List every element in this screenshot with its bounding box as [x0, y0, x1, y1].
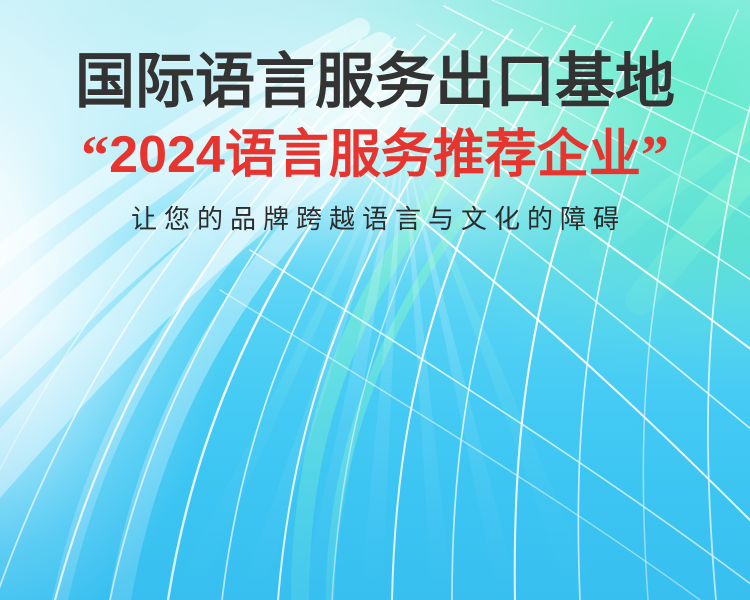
quote-open: “ — [81, 125, 109, 187]
promo-banner: 国际语言服务出口基地 “2024语言服务推荐企业” 让您的品牌跨越语言与文化的障… — [0, 0, 750, 600]
banner-content: 国际语言服务出口基地 “2024语言服务推荐企业” 让您的品牌跨越语言与文化的障… — [0, 0, 750, 232]
banner-subtitle-text: 2024语言服务推荐企业 — [109, 126, 641, 184]
banner-headline: 国际语言服务出口基地 — [0, 0, 750, 112]
banner-subtitle: “2024语言服务推荐企业” — [0, 112, 750, 184]
quote-close: ” — [641, 125, 669, 187]
banner-tagline: 让您的品牌跨越语言与文化的障碍 — [0, 184, 750, 232]
